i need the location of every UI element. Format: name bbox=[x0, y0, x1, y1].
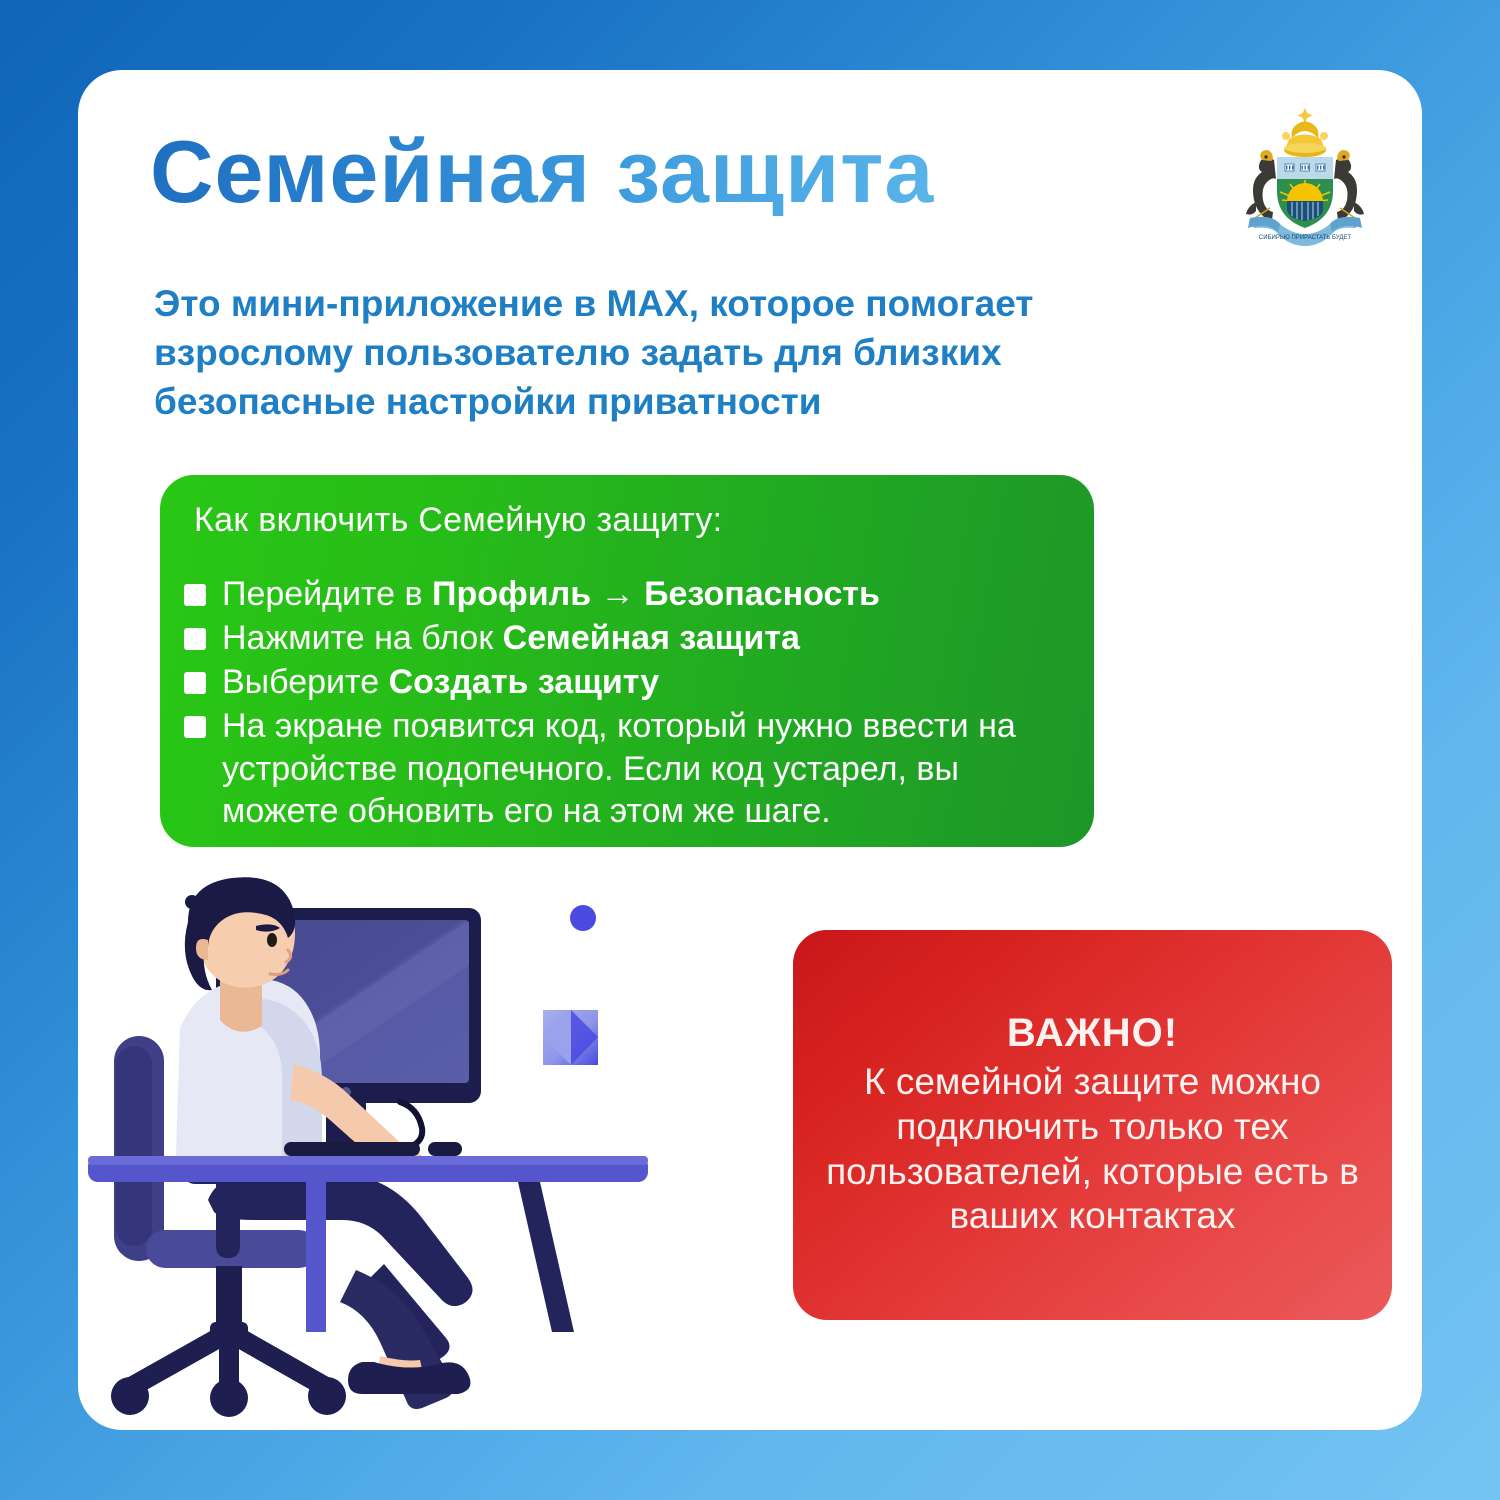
bullet-square-icon bbox=[184, 584, 206, 606]
green-panel-steps: Перейдите в Профиль → Безопасность Нажми… bbox=[170, 573, 1080, 834]
step-text-bold: Семейная защита bbox=[503, 619, 800, 657]
man-at-computer-illustration bbox=[88, 870, 788, 1430]
beaver-supporter-right bbox=[1334, 150, 1364, 220]
green-panel-heading: Как включить Семейную защиту: bbox=[194, 501, 722, 540]
shield-part bbox=[1277, 157, 1333, 228]
important-title: ВАЖНО! bbox=[1007, 1011, 1178, 1056]
bullet-square-icon bbox=[184, 672, 206, 694]
list-item: Выберите Создать защиту bbox=[170, 661, 1080, 703]
coat-of-arms-icon: СИБИРЬЮ ПРИРАСТАТЬ БУДЕТ bbox=[1230, 102, 1380, 252]
bullet-square-icon bbox=[184, 628, 206, 650]
step-text-prefix: На экране появится код, который нужно вв… bbox=[222, 707, 1016, 829]
svg-text:СИБИРЬЮ ПРИРАСТАТЬ БУДЕТ: СИБИРЬЮ ПРИРАСТАТЬ БУДЕТ bbox=[1259, 235, 1351, 241]
white-content-card: Семейная защита bbox=[78, 70, 1422, 1430]
crown-part bbox=[1282, 108, 1328, 157]
step-text-prefix: Нажмите на блок bbox=[222, 619, 503, 657]
keyboard-part bbox=[284, 1142, 462, 1156]
bullet-square-icon bbox=[184, 716, 206, 738]
beaver-supporter-left bbox=[1246, 150, 1276, 220]
how-to-enable-panel: Как включить Семейную защиту: Перейдите … bbox=[160, 475, 1094, 847]
step-text-prefix: Перейдите в bbox=[222, 575, 432, 613]
decor-circle-icon bbox=[570, 905, 596, 931]
list-item: Нажмите на блок Семейная защита bbox=[170, 617, 1080, 659]
poster-background: Семейная защита bbox=[0, 0, 1500, 1500]
subtitle-text: Это мини-приложение в MAX, которое помог… bbox=[154, 280, 1164, 426]
important-warning-panel: ВАЖНО! К семейной защите можно подключит… bbox=[793, 930, 1392, 1320]
important-body: К семейной защите можно подключить тольк… bbox=[811, 1060, 1374, 1239]
step-text-prefix: Выберите bbox=[222, 663, 389, 701]
page-title: Семейная защита bbox=[150, 128, 934, 216]
decor-diamond-icon bbox=[543, 1010, 598, 1065]
list-item: На экране появится код, который нужно вв… bbox=[170, 705, 1080, 831]
step-text-bold: Создать защиту bbox=[389, 663, 660, 701]
list-item: Перейдите в Профиль → Безопасность bbox=[170, 573, 1080, 615]
step-text-bold: Профиль → Безопасность bbox=[432, 575, 880, 613]
